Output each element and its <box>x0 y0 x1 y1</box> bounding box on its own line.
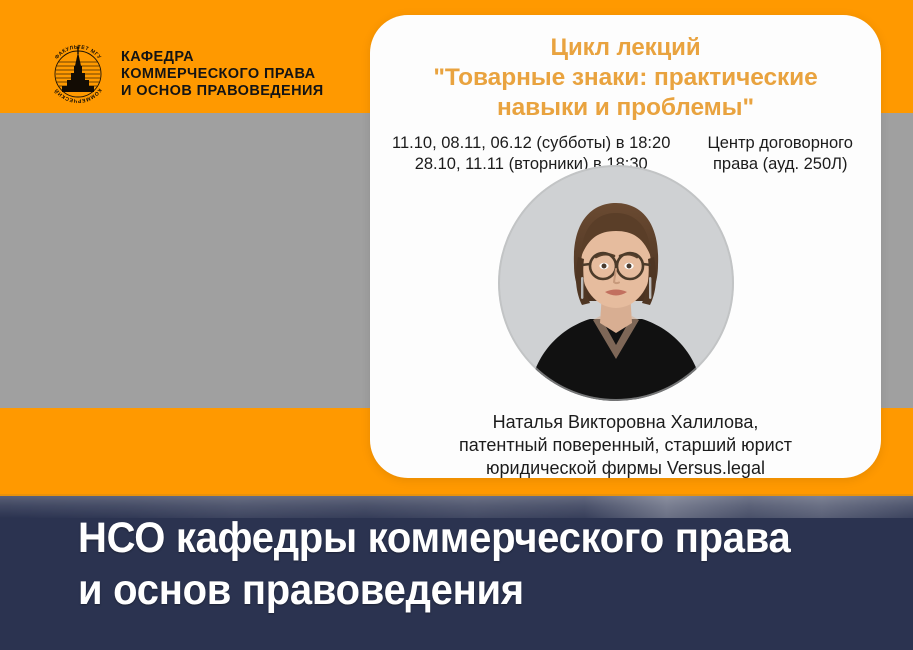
department-logo: ФАКУЛЬТЕТ МГУ КОММЕРЧЕСКИЙ КАФЕДРА КОММЕ… <box>46 42 324 106</box>
speaker-role-line-2: юридической фирмы Versus.legal <box>386 457 865 478</box>
logo-text-line-1: КАФЕДРА <box>121 49 324 66</box>
lecture-card: Цикл лекций "Товарные знаки: практически… <box>370 15 881 478</box>
department-logo-text: КАФЕДРА КОММЕРЧЕСКОГО ПРАВА И ОСНОВ ПРАВ… <box>121 49 324 100</box>
speaker-portrait <box>498 165 734 401</box>
organisation-banner: НСО кафедры коммерческого права и основ … <box>78 512 822 616</box>
lecture-title: Цикл лекций "Товарные знаки: практически… <box>388 33 863 123</box>
msu-tower-emblem-icon: ФАКУЛЬТЕТ МГУ КОММЕРЧЕСКИЙ <box>46 42 110 106</box>
lecture-title-line-1: Цикл лекций <box>388 33 863 63</box>
venue-line-1: Центр договорного <box>707 133 853 154</box>
speaker-caption: Наталья Викторовна Халилова, патентный п… <box>386 411 865 478</box>
lecture-title-line-3: навыки и проблемы" <box>388 93 863 123</box>
speaker-name: Наталья Викторовна Халилова, <box>386 411 865 434</box>
lecture-title-line-2: "Товарные знаки: практические <box>388 63 863 93</box>
speaker-avatar <box>498 165 734 401</box>
schedule-line-1: 11.10, 08.11, 06.12 (субботы) в 18:20 <box>392 133 670 154</box>
poster-root: ФАКУЛЬТЕТ МГУ КОММЕРЧЕСКИЙ КАФЕДРА КОММЕ… <box>0 0 913 650</box>
logo-text-line-3: И ОСНОВ ПРАВОВЕДЕНИЯ <box>121 83 324 100</box>
banner-line-1: НСО кафедры коммерческого права <box>78 512 822 564</box>
speaker-role-line-1: патентный поверенный, старший юрист <box>386 434 865 457</box>
logo-text-line-2: КОММЕРЧЕСКОГО ПРАВА <box>121 66 324 83</box>
banner-line-2: и основ правоведения <box>78 564 822 616</box>
